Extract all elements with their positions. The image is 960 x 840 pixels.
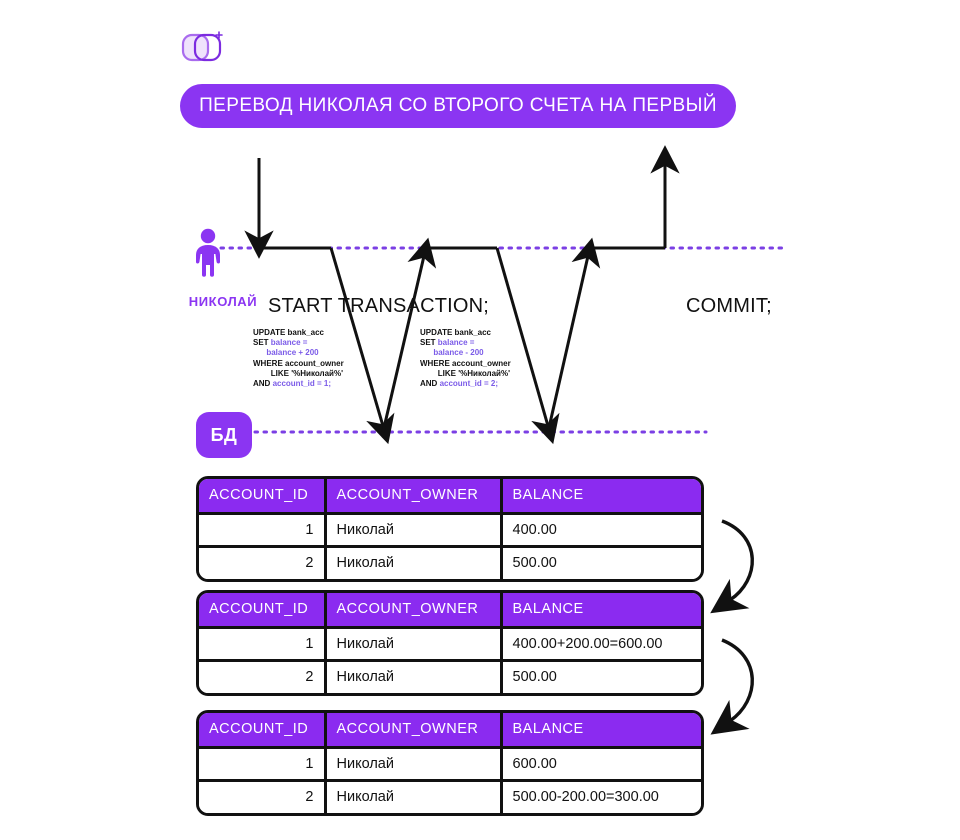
table-row: 2 Николай 500.00 [199, 546, 701, 579]
table-row: 2 Николай 500.00 [199, 660, 701, 693]
database-label: БД [211, 425, 238, 446]
sql-kw: SET [253, 338, 271, 347]
table-row: 1 Николай 600.00 [199, 747, 701, 780]
cell-account-owner: Николай [325, 513, 501, 546]
database-pill: БД [196, 412, 252, 458]
sql-value: balance = [271, 338, 308, 347]
cell-account-id: 2 [199, 780, 325, 813]
sql-value: balance - 200 [433, 348, 483, 357]
column-header-account-id: ACCOUNT_ID [199, 713, 325, 747]
sql-kw: WHERE [420, 359, 452, 368]
cell-account-owner: Николай [325, 627, 501, 660]
accounts-table-after-second-update: ACCOUNT_ID ACCOUNT_OWNER BALANCE 1 Никол… [196, 710, 704, 816]
accounts-table-initial: ACCOUNT_ID ACCOUNT_OWNER BALANCE 1 Никол… [196, 476, 704, 582]
actor-label: НИКОЛАЙ [178, 294, 268, 309]
sql-like: LIKE '%Николай%' [438, 369, 510, 378]
column-header-account-id: ACCOUNT_ID [199, 593, 325, 627]
column-header-account-id: ACCOUNT_ID [199, 479, 325, 513]
sql-kw: WHERE [253, 359, 285, 368]
sql-kw: SET [420, 338, 438, 347]
cell-account-id: 1 [199, 627, 325, 660]
sql-value: balance + 200 [266, 348, 318, 357]
brand-logo-icon [180, 28, 226, 68]
start-transaction-label: START TRANSACTION; [268, 295, 489, 318]
column-header-balance: BALANCE [501, 479, 701, 513]
cell-account-owner: Николай [325, 546, 501, 579]
accounts-table-after-first-update: ACCOUNT_ID ACCOUNT_OWNER BALANCE 1 Никол… [196, 590, 704, 696]
sql-obj: account_owner [285, 359, 344, 368]
sql-value: account_id = 1; [273, 379, 331, 388]
table-row: 1 Николай 400.00 [199, 513, 701, 546]
cell-balance: 500.00 [501, 660, 701, 693]
cell-balance: 400.00 [501, 513, 701, 546]
cell-balance: 500.00 [501, 546, 701, 579]
table-header-row: ACCOUNT_ID ACCOUNT_OWNER BALANCE [199, 713, 701, 747]
sql-value: account_id = 2; [440, 379, 498, 388]
commit-label: COMMIT; [686, 295, 772, 318]
cell-account-id: 2 [199, 660, 325, 693]
column-header-account-owner: ACCOUNT_OWNER [325, 479, 501, 513]
sql-block-credit: UPDATE bank_acc SET balance = balance + … [253, 328, 344, 389]
cell-account-id: 1 [199, 747, 325, 780]
sql-obj: bank_acc [455, 328, 491, 337]
table-row: 2 Николай 500.00-200.00=300.00 [199, 780, 701, 813]
cell-account-owner: Николай [325, 747, 501, 780]
sql-obj: account_owner [452, 359, 511, 368]
cell-account-id: 2 [199, 546, 325, 579]
person-icon [190, 228, 226, 278]
cell-account-owner: Николай [325, 660, 501, 693]
sql-kw: AND [253, 379, 273, 388]
column-header-account-owner: ACCOUNT_OWNER [325, 713, 501, 747]
column-header-balance: BALANCE [501, 713, 701, 747]
cell-balance: 500.00-200.00=300.00 [501, 780, 701, 813]
cell-balance: 400.00+200.00=600.00 [501, 627, 701, 660]
sql-like: LIKE '%Николай%' [271, 369, 343, 378]
sql-kw: UPDATE [253, 328, 288, 337]
sql-block-debit: UPDATE bank_acc SET balance = balance - … [420, 328, 511, 389]
table-header-row: ACCOUNT_ID ACCOUNT_OWNER BALANCE [199, 479, 701, 513]
sql-kw: AND [420, 379, 440, 388]
sql-obj: bank_acc [288, 328, 324, 337]
column-header-balance: BALANCE [501, 593, 701, 627]
page-title: ПЕРЕВОД НИКОЛАЯ СО ВТОРОГО СЧЕТА НА ПЕРВ… [199, 95, 717, 117]
transaction-timeline-diagram: START TRANSACTION; COMMIT; [0, 140, 960, 460]
cell-account-owner: Николай [325, 780, 501, 813]
cell-balance: 600.00 [501, 747, 701, 780]
sql-value: balance = [438, 338, 475, 347]
page-title-banner: ПЕРЕВОД НИКОЛАЯ СО ВТОРОГО СЧЕТА НА ПЕРВ… [180, 84, 736, 128]
table-header-row: ACCOUNT_ID ACCOUNT_OWNER BALANCE [199, 593, 701, 627]
sql-kw: UPDATE [420, 328, 455, 337]
cell-account-id: 1 [199, 513, 325, 546]
column-header-account-owner: ACCOUNT_OWNER [325, 593, 501, 627]
table-row: 1 Николай 400.00+200.00=600.00 [199, 627, 701, 660]
